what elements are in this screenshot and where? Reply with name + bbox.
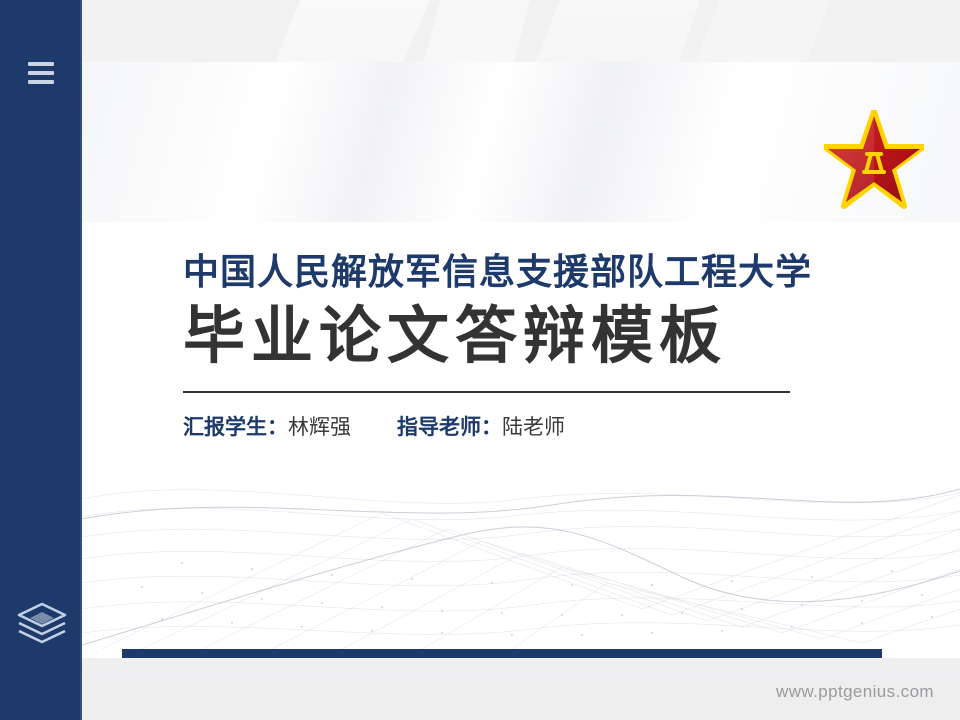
slide-content-card: 中国人民解放军信息支援部队工程大学 毕业论文答辩模板 汇报学生：林辉强指导老师：… <box>82 62 960 658</box>
presenter-label: 汇报学生： <box>183 416 288 439</box>
page-title: 毕业论文答辩模板 <box>183 302 883 371</box>
hamburger-bar <box>28 80 54 84</box>
left-sidebar <box>0 0 82 720</box>
hamburger-bar <box>28 62 54 66</box>
sidebar-edge-highlight <box>80 0 82 720</box>
university-name: 中国人民解放军信息支援部队工程大学 <box>183 252 883 292</box>
title-divider <box>183 391 790 393</box>
advisor-label: 指导老师： <box>397 416 502 439</box>
hamburger-bar <box>28 71 54 75</box>
advisor-name: 陆老师 <box>502 416 565 439</box>
presenter-info-row: 汇报学生：林辉强指导老师：陆老师 <box>183 415 883 440</box>
slide-canvas: 中国人民解放军信息支援部队工程大学 毕业论文答辩模板 汇报学生：林辉强指导老师：… <box>0 0 960 720</box>
hamburger-icon[interactable] <box>28 62 54 84</box>
card-bottom-accent-bar <box>122 649 882 658</box>
presenter-name: 林辉强 <box>288 416 351 439</box>
pla-red-star-emblem <box>824 110 924 214</box>
layers-stack-icon[interactable] <box>16 600 68 646</box>
title-text-block: 中国人民解放军信息支援部队工程大学 毕业论文答辩模板 汇报学生：林辉强指导老师：… <box>183 252 883 440</box>
mesh-wave-graphic <box>82 459 960 649</box>
watermark-url: www.pptgenius.com <box>776 682 934 702</box>
